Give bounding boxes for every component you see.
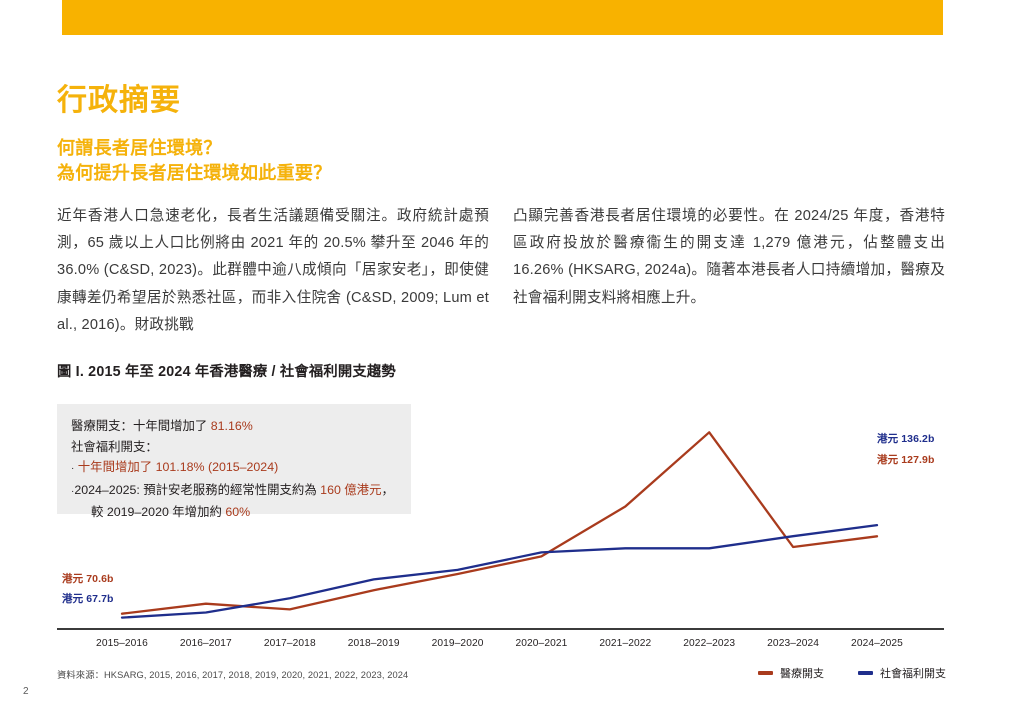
legend-item-health: 醫療開支 — [758, 665, 824, 681]
callout-line-1: 醫療開支：十年間增加了 81.16% — [71, 416, 397, 437]
legend-swatch-icon — [758, 671, 773, 676]
figure-callout-box: 醫療開支：十年間增加了 81.16% 社會福利開支： · 十年間增加了 101.… — [57, 404, 411, 514]
social-start-value-label: 港元 67.7b — [62, 591, 114, 606]
callout-bullet-2: ·2024–2025: 預計安老服務的經常性開支約為 160 億港元， — [71, 480, 397, 503]
callout-bullet-1: · 十年間增加了 101.18% (2015–2024) — [71, 457, 397, 480]
x-axis-tick-2017-2018: 2017–2018 — [264, 638, 316, 649]
health-start-value-label: 港元 70.6b — [62, 571, 114, 586]
chart-x-axis-tick-labels: 2015–20162016–20172017–20182018–20192019… — [57, 638, 944, 654]
callout-bullet-2-cont-value: 60% — [225, 505, 250, 519]
x-axis-tick-2020-2021: 2020–2021 — [515, 638, 567, 649]
x-axis-tick-2022-2023: 2022–2023 — [683, 638, 735, 649]
legend-label: 社會福利開支 — [880, 665, 946, 681]
page-title: 行政摘要 — [57, 75, 181, 119]
page-number: 2 — [23, 686, 29, 697]
legend-swatch-icon — [858, 671, 873, 676]
body-paragraph-left: 近年香港人口急速老化，長者生活議題備受關注。政府統計處預測，65 歲以上人口比例… — [57, 203, 489, 339]
health-end-value-label: 港元 127.9b — [877, 452, 935, 467]
callout-bullet-2-continuation: 較 2019–2020 年增加約 60% — [71, 502, 397, 523]
callout-bullet-1-text: 十年間增加了 101.18% (2015–2024) — [78, 460, 278, 474]
body-paragraph-right: 凸顯完善香港長者居住環境的必要性。在 2024/25 年度，香港特區政府投放於醫… — [513, 203, 945, 312]
chart-x-axis-line — [57, 628, 944, 630]
callout-bullet-2-value: 160 億港元 — [320, 483, 381, 497]
chart-legend: 醫療開支社會福利開支 — [758, 665, 946, 681]
callout-bullet-2-cont-prefix: 較 2019–2020 年增加約 — [91, 505, 225, 519]
legend-label: 醫療開支 — [780, 665, 824, 681]
x-axis-tick-2019-2020: 2019–2020 — [432, 638, 484, 649]
top-accent-banner — [62, 0, 943, 35]
x-axis-tick-2018-2019: 2018–2019 — [348, 638, 400, 649]
social-welfare-expenditure-line — [122, 525, 877, 618]
callout-line-1-value: 81.16% — [211, 419, 253, 433]
callout-line-1-text: 醫療開支：十年間增加了 — [71, 419, 211, 433]
callout-bullet-2-suffix: ， — [381, 483, 393, 497]
figure-source-note: 資料來源：HKSARG, 2015, 2016, 2017, 2018, 201… — [57, 667, 408, 681]
social-end-value-label: 港元 136.2b — [877, 431, 935, 446]
x-axis-tick-2015-2016: 2015–2016 — [96, 638, 148, 649]
subtitle-line-2: 為何提升長者居住環境如此重要？ — [57, 161, 332, 186]
legend-item-social: 社會福利開支 — [858, 665, 946, 681]
callout-bullet-2-prefix: 2024–2025: 預計安老服務的經常性開支約為 — [74, 483, 320, 497]
x-axis-tick-2021-2022: 2021–2022 — [599, 638, 651, 649]
callout-line-2: 社會福利開支： — [71, 437, 397, 458]
subtitle-line-1: 何謂長者居住環境？ — [57, 136, 332, 161]
x-axis-tick-2016-2017: 2016–2017 — [180, 638, 232, 649]
x-axis-tick-2023-2024: 2023–2024 — [767, 638, 819, 649]
body-column-left: 近年香港人口急速老化，長者生活議題備受關注。政府統計處預測，65 歲以上人口比例… — [57, 203, 489, 339]
body-column-right: 凸顯完善香港長者居住環境的必要性。在 2024/25 年度，香港特區政府投放於醫… — [513, 203, 945, 312]
section-subtitle: 何謂長者居住環境？ 為何提升長者居住環境如此重要？ — [57, 136, 332, 186]
bullet-dot-icon: · — [71, 463, 74, 474]
x-axis-tick-2024-2025: 2024–2025 — [851, 638, 903, 649]
